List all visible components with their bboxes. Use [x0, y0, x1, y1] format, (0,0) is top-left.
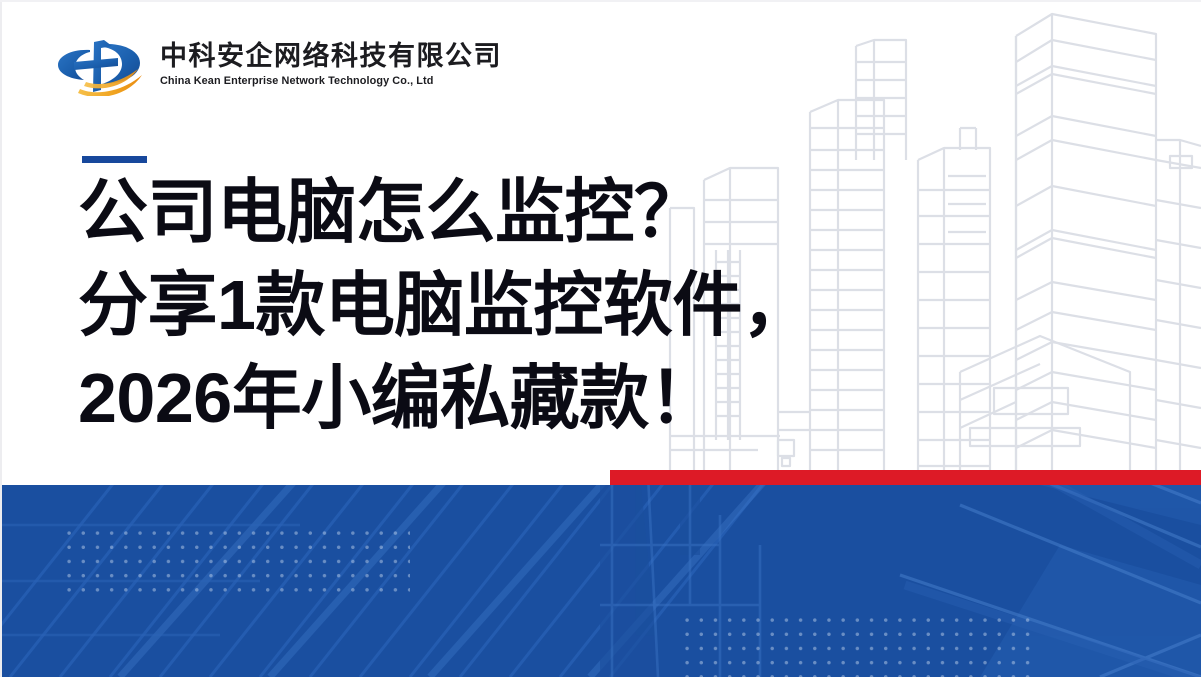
dot-pattern-right: [680, 613, 1032, 677]
headline-line-1: 公司电脑怎么监控？: [78, 166, 1128, 259]
brand-header: 中科安企网络科技有限公司 China Kean Enterprise Netwo…: [52, 34, 502, 96]
brand-name-cn: 中科安企网络科技有限公司: [160, 41, 502, 72]
banner-canvas: 中科安企网络科技有限公司 China Kean Enterprise Netwo…: [0, 0, 1201, 677]
red-divider-bar: [610, 470, 1201, 485]
canvas-left-edge: [0, 0, 2, 677]
headline-line-2: 分享1款电脑监控软件，: [78, 259, 1128, 352]
brand-name-en: China Kean Enterprise Network Technology…: [160, 74, 492, 89]
headline-accent-bar: [82, 156, 147, 163]
bottom-blue-band: [0, 485, 1201, 677]
headline-line-3: 2026年小编私藏款！: [78, 352, 1128, 445]
canvas-top-edge: [0, 0, 1201, 2]
dot-pattern-left: [62, 526, 410, 601]
china-kean-logo-icon: [52, 34, 148, 96]
page-title: 公司电脑怎么监控？ 分享1款电脑监控软件， 2026年小编私藏款！: [78, 166, 1128, 445]
